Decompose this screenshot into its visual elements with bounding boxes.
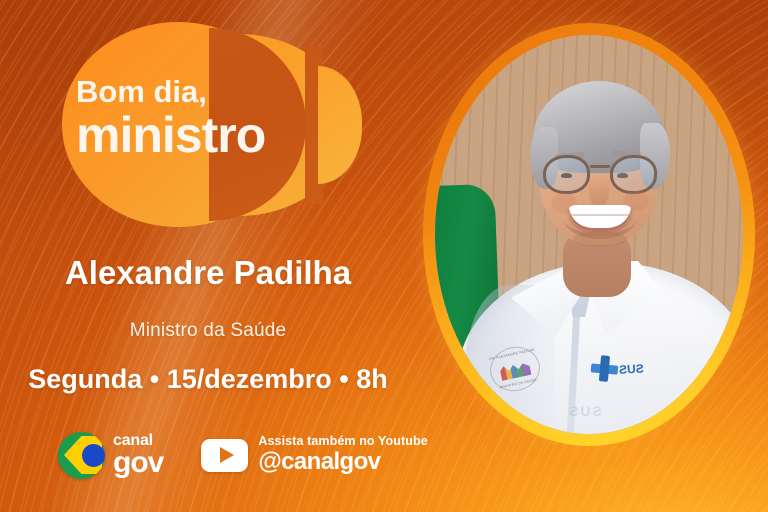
youtube-prompt: Assista também no Youtube <box>258 435 427 448</box>
youtube-text-block: Assista também no Youtube @canalgov <box>258 435 427 474</box>
play-triangle-icon <box>220 447 234 463</box>
program-logo-text: Bom dia, ministro <box>76 76 265 160</box>
canalgov-wordmark: canal gov <box>113 433 163 477</box>
program-logo-line-2: ministro <box>76 110 265 160</box>
chin-shadow <box>573 231 627 247</box>
program-logo-line-1: Bom dia, <box>76 76 265 107</box>
schedule-line: Segunda • 15/dezembro • 8h <box>0 364 416 395</box>
logo-half-disc-small <box>318 66 362 184</box>
canalgov-gov-text: gov <box>113 449 163 477</box>
lens-right <box>610 155 657 194</box>
portrait-photo: DR. ALEXANDRE PADILHA MINISTRO DA SAÚDE … <box>435 35 743 434</box>
sus-logo-text: SUS <box>619 362 644 377</box>
lens-left <box>543 155 590 194</box>
canalgov-logo[interactable]: canal gov <box>58 432 163 479</box>
brazil-blue-circle <box>82 444 105 467</box>
guest-name: Alexandre Padilha <box>0 254 416 292</box>
broadcast-promo-card: Bom dia, ministro Alexandre Padilha Mini… <box>0 0 768 512</box>
youtube-handle: @canalgov <box>258 449 427 474</box>
portrait-ring: DR. ALEXANDRE PADILHA MINISTRO DA SAÚDE … <box>423 23 755 446</box>
guest-role: Ministro da Saúde <box>0 320 416 342</box>
footer-bar: canal gov Assista também no Youtube @can… <box>0 420 430 490</box>
sus-cross-vertical <box>599 355 610 382</box>
coat-watermark-text: SUS <box>567 403 602 419</box>
program-logo: Bom dia, ministro <box>62 22 362 227</box>
youtube-icon[interactable] <box>201 439 248 472</box>
glasses-bridge <box>590 165 610 168</box>
youtube-cta[interactable]: Assista também no Youtube @canalgov <box>201 435 427 474</box>
sus-logo-icon: SUS <box>584 353 645 384</box>
brazil-globe-icon <box>58 432 105 479</box>
